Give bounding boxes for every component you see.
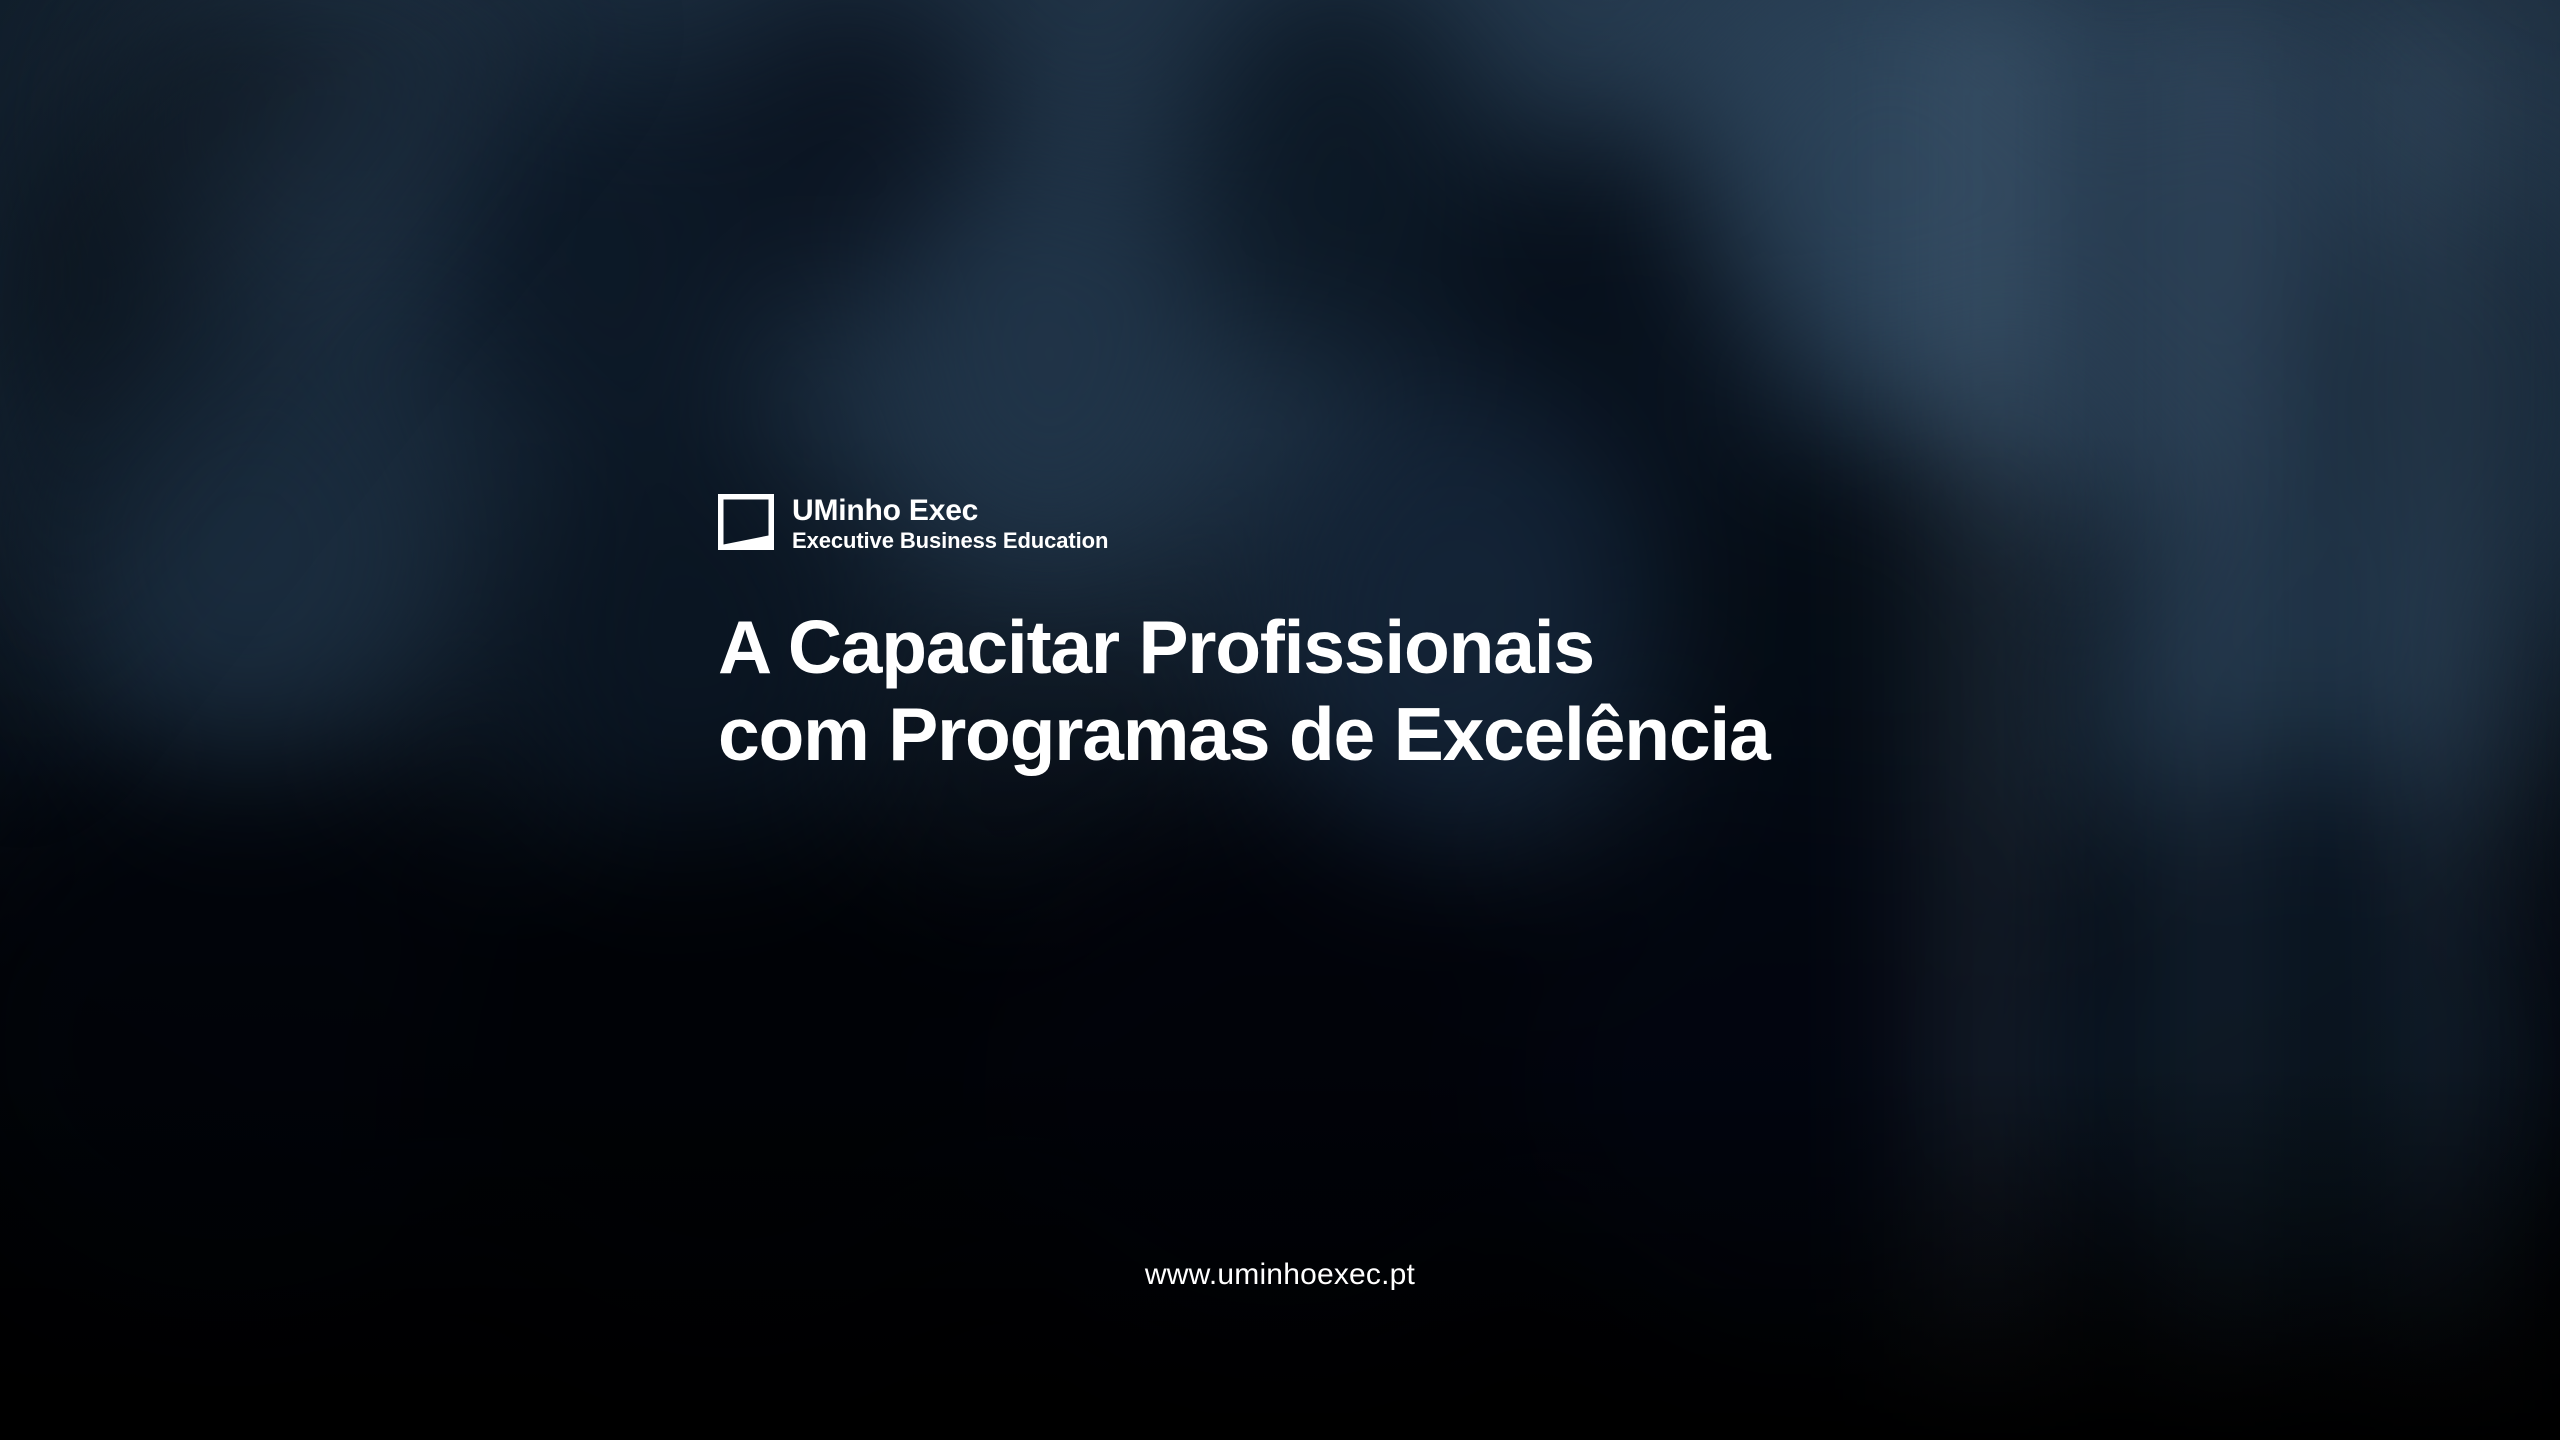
logo-wordmark: UMinho Exec Executive Business Education [792, 494, 1108, 553]
site-url[interactable]: www.uminhoexec.pt [0, 1258, 2560, 1292]
banner-stage: UMinho Exec Executive Business Education… [0, 0, 2560, 1440]
logo-name: UMinho Exec [792, 495, 1108, 527]
logo-tagline: Executive Business Education [792, 529, 1108, 554]
logo: UMinho Exec Executive Business Education [718, 494, 2118, 553]
headline-line-1: A Capacitar Profissionais [718, 604, 2118, 692]
uminho-exec-square-mark-icon [718, 494, 774, 550]
banner-content: UMinho Exec Executive Business Education… [0, 0, 2560, 1440]
headline-line-2: com Programas de Excelência [718, 691, 2118, 779]
page-title: A Capacitar Profissionais com Programas … [718, 604, 2118, 780]
brand-lockup: UMinho Exec Executive Business Education… [718, 494, 2118, 829]
